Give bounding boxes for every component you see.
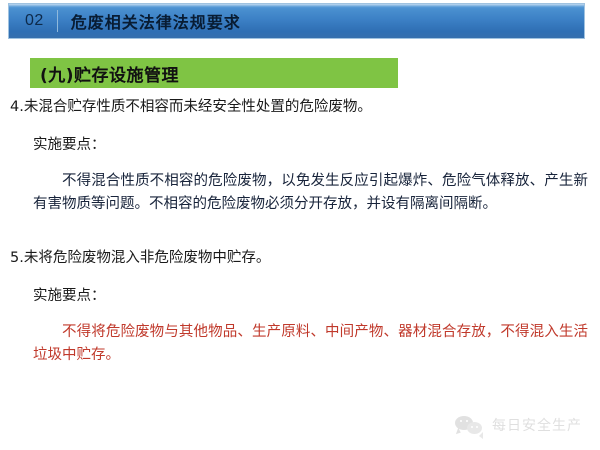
spacer	[0, 118, 600, 134]
slide-content: 4.未混合贮存性质不相容而未经安全性处置的危险废物。 实施要点： 不得混合性质不…	[0, 96, 600, 368]
spacer	[0, 269, 600, 285]
watermark: 每日安全生产	[455, 414, 582, 436]
header-bar: 02 危废相关法律法规要求	[8, 3, 585, 39]
spacer	[0, 308, 600, 321]
watermark-text: 每日安全生产	[492, 415, 582, 435]
implementation-points-label: 实施要点：	[33, 134, 600, 156]
content-item-4: 4.未混合贮存性质不相容而未经安全性处置的危险废物。 实施要点： 不得混合性质不…	[0, 96, 600, 217]
slide-header: 02 危废相关法律法规要求	[8, 3, 585, 39]
item-heading: 4.未混合贮存性质不相容而未经安全性处置的危险废物。	[10, 96, 586, 118]
wechat-icon	[455, 414, 485, 436]
header-title: 危废相关法律法规要求	[71, 9, 241, 33]
item-heading: 5.未将危险废物混入非危险废物中贮存。	[10, 247, 586, 269]
item-paragraph: 不得将危险废物与其他物品、生产原料、中间产物、器材混合存放，不得混入生活垃圾中贮…	[33, 321, 588, 368]
header-divider	[57, 10, 58, 32]
spacer	[0, 157, 600, 170]
section-title-text: (九)贮存设施管理	[40, 61, 179, 86]
header-section-number: 02	[25, 12, 44, 30]
item-paragraph: 不得混合性质不相容的危险废物，以免发生反应引起爆炸、危险气体释放、产生新有害物质…	[33, 170, 588, 217]
content-item-5: 5.未将危险废物混入非危险废物中贮存。 实施要点： 不得将危险废物与其他物品、生…	[0, 247, 600, 368]
spacer	[0, 217, 600, 247]
section-title-banner: (九)贮存设施管理	[30, 58, 398, 88]
implementation-points-label: 实施要点：	[33, 285, 600, 307]
